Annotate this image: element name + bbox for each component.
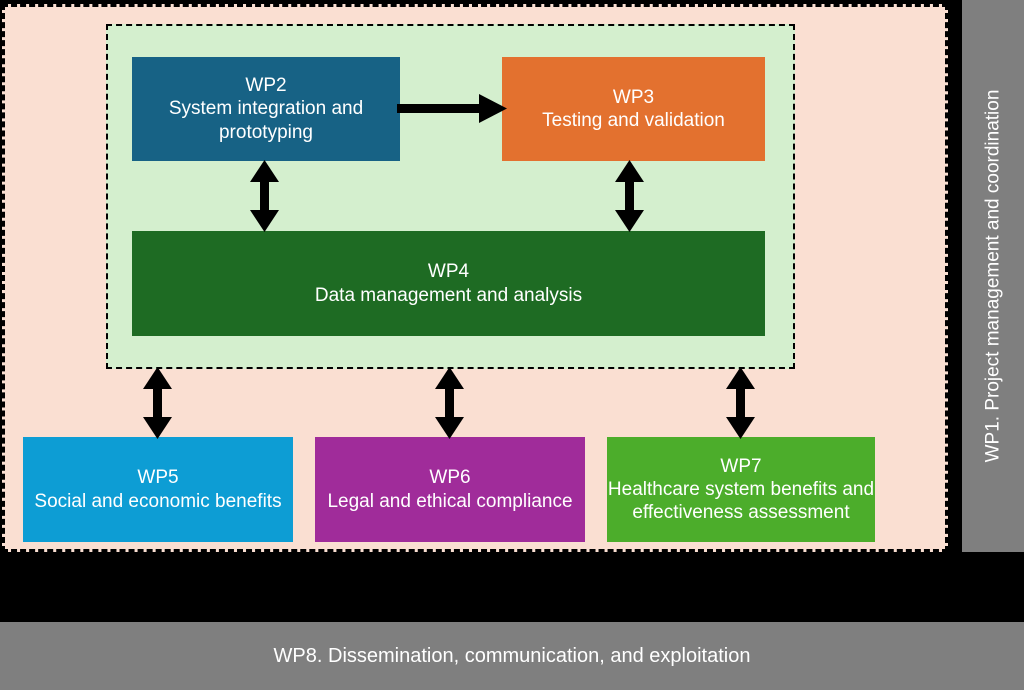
arrow-double-vertical-icon-core-wp6 [433,367,467,439]
wp2-title: System integration and prototyping [132,97,400,143]
wp8-bottom-bar[interactable]: WP8. Dissemination, communication, and e… [0,622,1024,690]
wp6-title: Legal and ethical compliance [327,490,572,513]
wp4-title: Data management and analysis [315,284,582,307]
arrow-double-vertical-icon-wp3-wp4 [613,160,647,232]
wp2-code: WP2 [245,74,286,97]
wp3-title: Testing and validation [542,109,725,132]
work-package-box-wp7[interactable]: WP7 Healthcare system benefits and effec… [607,437,875,542]
wp8-bottom-bar-label: WP8. Dissemination, communication, and e… [274,645,751,668]
work-package-box-wp6[interactable]: WP6 Legal and ethical compliance [315,437,585,542]
work-package-box-wp2[interactable]: WP2 System integration and prototyping [132,57,400,161]
wp6-code: WP6 [429,466,470,489]
arrow-double-vertical-icon-wp2-wp4 [248,160,282,232]
project-scope-area: WP2 System integration and prototyping W… [2,4,948,552]
wp1-side-bar-label: WP1. Project management and coordination [982,90,1004,463]
wp7-code: WP7 [720,455,761,478]
work-package-box-wp5[interactable]: WP5 Social and economic benefits [23,437,293,542]
work-package-box-wp3[interactable]: WP3 Testing and validation [502,57,765,161]
arrow-double-vertical-icon-core-wp7 [724,367,758,439]
wp1-side-bar[interactable]: WP1. Project management and coordination [962,0,1024,552]
diagram-canvas: WP2 System integration and prototyping W… [0,0,1024,690]
wp4-code: WP4 [428,260,469,283]
wp7-title: Healthcare system benefits and effective… [607,478,875,524]
arrow-right-icon-wp2-to-wp3 [397,92,509,126]
work-package-box-wp4[interactable]: WP4 Data management and analysis [132,231,765,336]
arrow-double-vertical-icon-core-wp5 [141,367,175,439]
wp5-code: WP5 [137,466,178,489]
wp3-code: WP3 [613,86,654,109]
wp5-title: Social and economic benefits [34,490,281,513]
